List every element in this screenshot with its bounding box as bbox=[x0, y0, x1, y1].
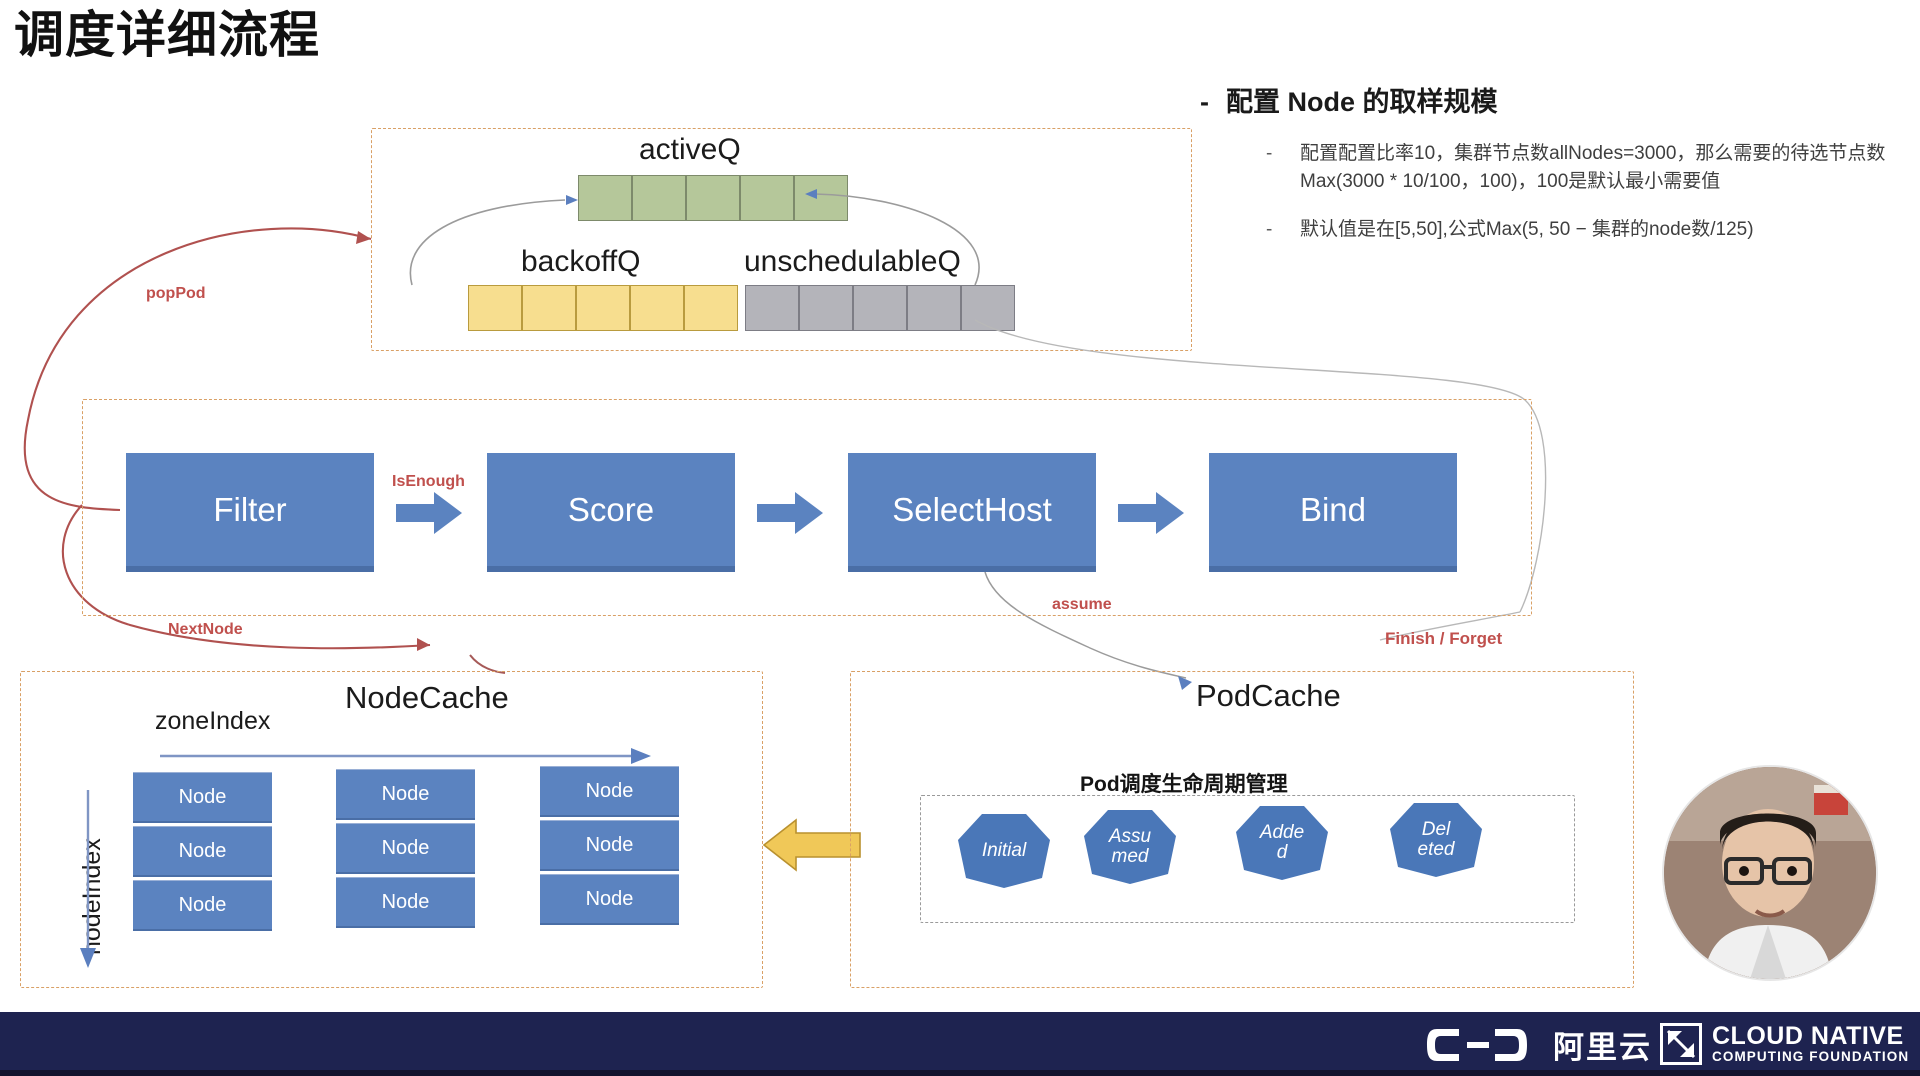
backoffq-cell bbox=[576, 285, 630, 331]
stage-selecthost[interactable]: SelectHost bbox=[848, 453, 1096, 570]
activeq-cell bbox=[740, 175, 794, 221]
notes-bullet-2-text: 默认值是在[5,50],公式Max(5, 50 − 集群的node数/125) bbox=[1300, 219, 1754, 240]
notes-heading-dash: - bbox=[1200, 87, 1226, 118]
stage-filter-label: Filter bbox=[213, 491, 286, 529]
node-cell[interactable]: Node bbox=[336, 877, 475, 926]
activeq-label: activeQ bbox=[639, 133, 741, 167]
node-cell[interactable]: Node bbox=[336, 823, 475, 872]
node-cell[interactable]: Node bbox=[336, 769, 475, 818]
footer-bottom-strip bbox=[0, 1070, 1920, 1076]
nodecache-column-2: Node Node Node bbox=[336, 769, 475, 926]
stage-score-label: Score bbox=[568, 491, 654, 529]
notes-bullet-1-text: 配置配置比率10，集群节点数allNodes=3000，那么需要的待选节点数 M… bbox=[1300, 143, 1885, 192]
unschedulableq-cell bbox=[907, 285, 961, 331]
pod-state-assumed[interactable]: Assu med bbox=[1082, 808, 1178, 886]
unschedulableq-cell bbox=[745, 285, 799, 331]
aliyun-logo-text: 阿里云 bbox=[1553, 1022, 1652, 1067]
hexagon-icon bbox=[956, 812, 1052, 890]
node-cell-label: Node bbox=[586, 780, 634, 803]
presenter-webcam bbox=[1664, 767, 1876, 979]
node-cell-label: Node bbox=[382, 891, 430, 914]
stage-score[interactable]: Score bbox=[487, 453, 735, 570]
node-cell[interactable]: Node bbox=[540, 874, 679, 923]
cncf-line2: COMPUTING FOUNDATION bbox=[1712, 1050, 1909, 1064]
backoffq-cell bbox=[468, 285, 522, 331]
backoffq-cell bbox=[630, 285, 684, 331]
presenter-avatar bbox=[1664, 767, 1876, 979]
hexagon-icon bbox=[1234, 804, 1330, 882]
notes-heading-text: 配置 Node 的取样规模 bbox=[1226, 87, 1498, 117]
node-cell[interactable]: Node bbox=[540, 766, 679, 815]
notes-bullet-1-dash: - bbox=[1266, 140, 1272, 168]
cncf-logo: CLOUD NATIVE COMPUTING FOUNDATION bbox=[1660, 1023, 1909, 1065]
nodeindex-axis-arrow-icon bbox=[76, 786, 100, 972]
podcache-title: PodCache bbox=[1196, 678, 1341, 714]
node-cell[interactable]: Node bbox=[133, 772, 272, 821]
backoffq-cells bbox=[468, 285, 738, 331]
unschedulableq-cell bbox=[961, 285, 1015, 331]
aliyun-logo: 阿里云 bbox=[1425, 1022, 1652, 1067]
aliyun-bracket-icon bbox=[1425, 1023, 1543, 1067]
activeq-cell bbox=[794, 175, 848, 221]
node-cell-label: Node bbox=[586, 888, 634, 911]
pod-state-initial[interactable]: Initial bbox=[956, 812, 1052, 890]
nodecache-column-1: Node Node Node bbox=[133, 772, 272, 929]
pod-state-added[interactable]: Adde d bbox=[1234, 804, 1330, 882]
backoffq-cell bbox=[684, 285, 738, 331]
pod-lifecycle-title: Pod调度生命周期管理 bbox=[1080, 768, 1288, 798]
pod-state-deleted[interactable]: Del eted bbox=[1388, 801, 1484, 879]
nodecache-title: NodeCache bbox=[345, 680, 509, 716]
activeq-cells bbox=[578, 175, 848, 221]
annotation-finish-forget: Finish / Forget bbox=[1385, 629, 1502, 649]
slide-canvas: 调度详细流程 -配置 Node 的取样规模 - 配置配置比率10，集群节点数al… bbox=[0, 0, 1920, 1076]
notes-heading: -配置 Node 的取样规模 bbox=[1200, 80, 1498, 119]
notes-bullet-1: - 配置配置比率10，集群节点数allNodes=3000，那么需要的待选节点数… bbox=[1300, 140, 1912, 195]
node-cell[interactable]: Node bbox=[133, 880, 272, 929]
zoneindex-label: zoneIndex bbox=[155, 707, 270, 736]
annotation-isenough: IsEnough bbox=[392, 473, 465, 491]
nodecache-column-3: Node Node Node bbox=[540, 766, 679, 923]
activeq-cell bbox=[686, 175, 740, 221]
notes-bullet-2-dash: - bbox=[1266, 216, 1272, 244]
stage-selecthost-label: SelectHost bbox=[892, 491, 1052, 529]
stage-bind[interactable]: Bind bbox=[1209, 453, 1457, 570]
zoneindex-axis-arrow-icon bbox=[155, 744, 655, 768]
node-cell-label: Node bbox=[179, 786, 227, 809]
unschedulableq-label: unschedulableQ bbox=[744, 245, 961, 279]
node-cell-label: Node bbox=[586, 834, 634, 857]
arrow-selecthost-to-bind-icon bbox=[1118, 490, 1184, 536]
node-cell[interactable]: Node bbox=[133, 826, 272, 875]
node-cell-label: Node bbox=[382, 783, 430, 806]
page-title: 调度详细流程 bbox=[14, 8, 320, 63]
stage-bind-label: Bind bbox=[1300, 491, 1366, 529]
node-cell-label: Node bbox=[382, 837, 430, 860]
stage-filter[interactable]: Filter bbox=[126, 453, 374, 570]
podcache-to-nodecache-arrow-icon bbox=[762, 814, 862, 876]
activeq-cell bbox=[578, 175, 632, 221]
node-cell-label: Node bbox=[179, 894, 227, 917]
node-cell-label: Node bbox=[179, 840, 227, 863]
hexagon-icon bbox=[1082, 808, 1178, 886]
backoffq-label: backoffQ bbox=[521, 245, 641, 279]
backoffq-cell bbox=[522, 285, 576, 331]
unschedulableq-cells bbox=[745, 285, 1015, 331]
annotation-nextnode: NextNode bbox=[168, 621, 243, 639]
node-cell[interactable]: Node bbox=[540, 820, 679, 869]
footer-bar: 阿里云 CLOUD NATIVE COMPUTING FOUNDATION bbox=[0, 1012, 1920, 1076]
arrow-filter-to-score-icon bbox=[396, 490, 462, 536]
activeq-cell bbox=[632, 175, 686, 221]
unschedulableq-cell bbox=[799, 285, 853, 331]
arrow-score-to-selecthost-icon bbox=[757, 490, 823, 536]
unschedulableq-cell bbox=[853, 285, 907, 331]
annotation-poppod: popPod bbox=[146, 285, 206, 303]
cncf-mark-icon bbox=[1660, 1023, 1702, 1065]
hexagon-icon bbox=[1388, 801, 1484, 879]
cncf-line1: CLOUD NATIVE bbox=[1712, 1024, 1909, 1050]
notes-bullet-2: - 默认值是在[5,50],公式Max(5, 50 − 集群的node数/125… bbox=[1300, 216, 1912, 244]
